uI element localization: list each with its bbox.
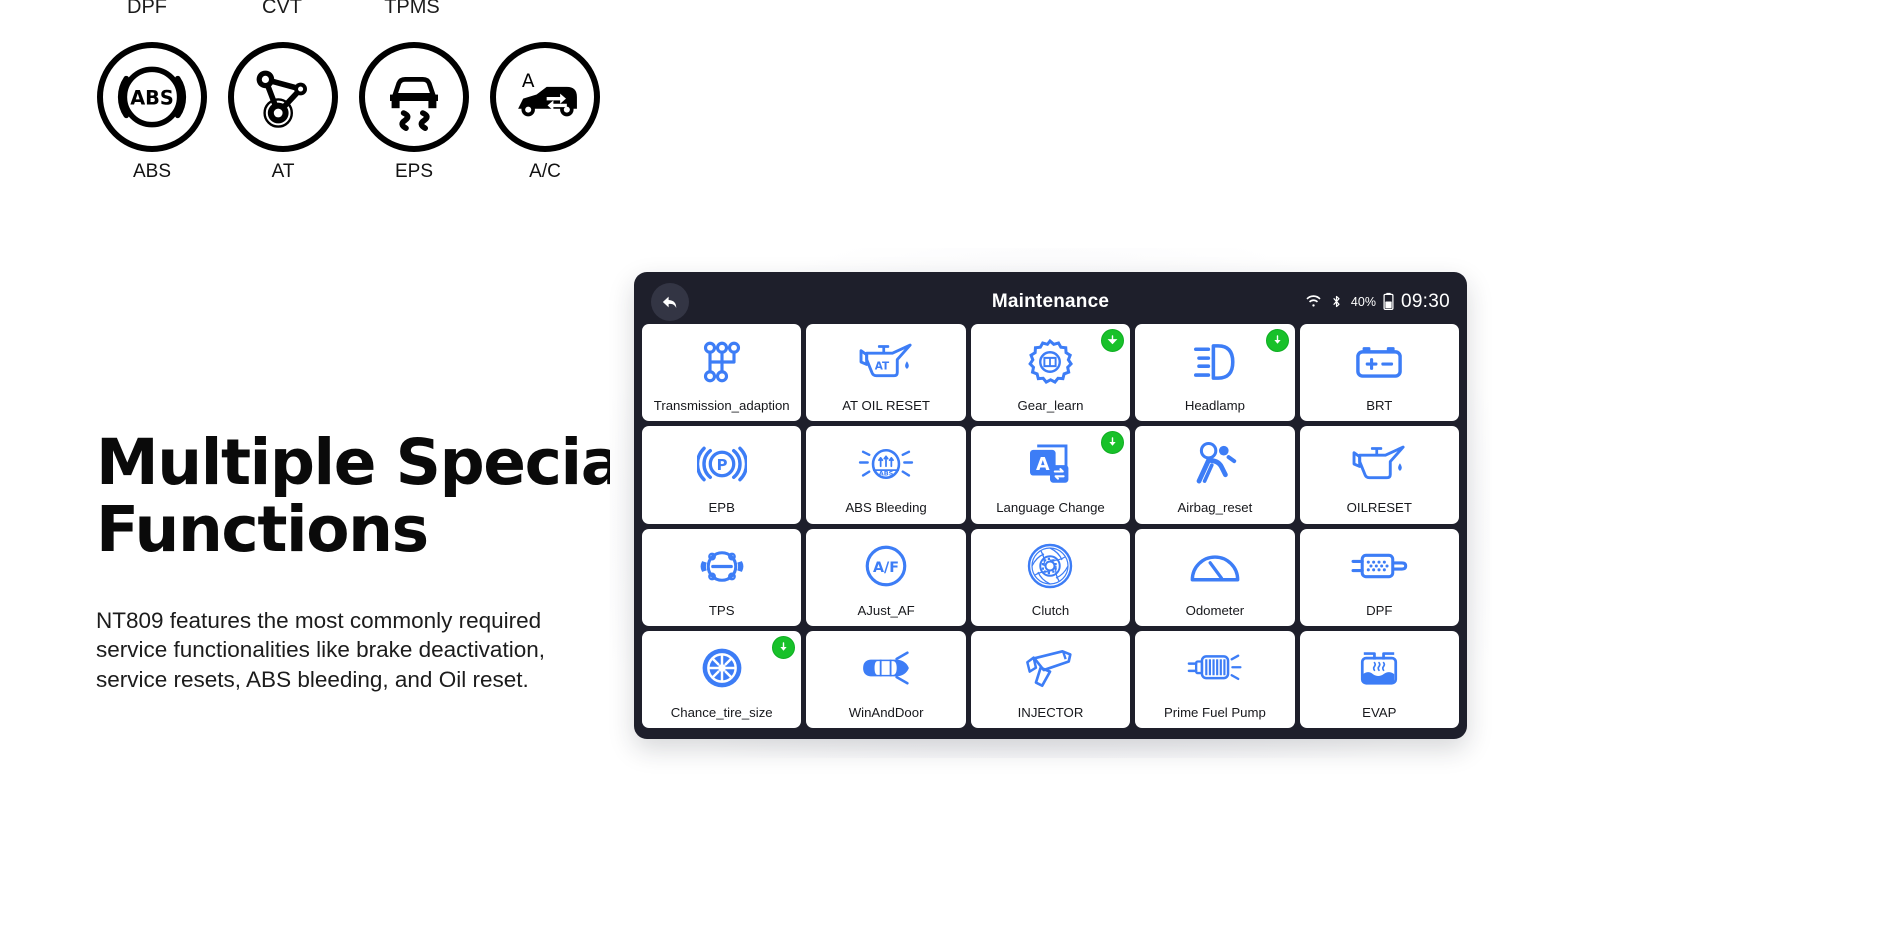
tile-epb[interactable]: P EPB (642, 426, 801, 523)
svg-text:A/F: A/F (873, 560, 899, 576)
svg-text:P: P (716, 457, 727, 474)
cropped-label-row: DPF CVT TPMS (0, 0, 760, 18)
tile-ajust-af[interactable]: A/F AJust_AF (806, 529, 965, 626)
tile-headlamp[interactable]: Headlamp (1135, 324, 1294, 421)
category-at: AT (213, 42, 353, 183)
tablet-device: Maintenance 40% (634, 272, 1467, 739)
tile-label: OILRESET (1347, 501, 1412, 523)
cropped-label-dpf: DPF (87, 0, 207, 19)
automatic-transmission-belt-icon (228, 42, 338, 152)
seatbelt-airbag-icon (1135, 426, 1294, 501)
air-fuel-ratio-icon: A/F (806, 529, 965, 604)
tile-brt[interactable]: BRT (1300, 324, 1459, 421)
throttle-body-icon (642, 529, 801, 604)
gear-shifter-icon (642, 324, 801, 399)
battery-percent: 40% (1351, 295, 1376, 309)
tile-label: AT OIL RESET (842, 399, 930, 421)
tile-chance-tire-size[interactable]: Chance_tire_size (642, 631, 801, 728)
tile-label: Odometer (1186, 604, 1245, 626)
tile-gear-learn[interactable]: Gear_learn (971, 324, 1130, 421)
fuel-injector-icon (971, 631, 1130, 706)
category-eps: EPS (344, 42, 484, 183)
cropped-label-cvt: CVT (222, 0, 342, 19)
tile-label: Airbag_reset (1178, 501, 1253, 523)
category-abs: ABS ABS (82, 42, 222, 183)
svg-text:A: A (1036, 455, 1050, 475)
tile-evap[interactable]: EVAP (1300, 631, 1459, 728)
tile-label: INJECTOR (1018, 706, 1084, 728)
bluetooth-icon (1329, 294, 1344, 309)
svg-text:ABS: ABS (879, 469, 894, 477)
car-top-view-icon (806, 631, 965, 706)
marketing-page: DPF CVT TPMS ABS ABS (0, 0, 1900, 946)
at-oil-can-icon: AT (806, 324, 965, 399)
status-indicators: 40% 09:30 (1305, 291, 1450, 313)
tile-label: Language Change (996, 501, 1105, 523)
tile-injector[interactable]: INJECTOR (971, 631, 1130, 728)
tile-dpf[interactable]: DPF (1300, 529, 1459, 626)
svg-text:AT: AT (875, 360, 890, 372)
category-icon-strip: DPF CVT TPMS ABS ABS (0, 0, 760, 230)
tile-label: Transmission_adaption (654, 399, 790, 421)
tile-oilreset[interactable]: OILRESET (1300, 426, 1459, 523)
category-label: EPS (344, 161, 484, 183)
dpf-filter-icon (1300, 529, 1459, 604)
oil-can-icon (1300, 426, 1459, 501)
tile-tps[interactable]: TPS (642, 529, 801, 626)
category-label: A/C (475, 161, 615, 183)
clock: 09:30 (1401, 291, 1450, 313)
electronic-stability-car-icon (359, 42, 469, 152)
tile-label: EPB (709, 501, 735, 523)
tile-label: EVAP (1362, 706, 1396, 728)
back-arrow-icon[interactable] (651, 283, 689, 321)
status-bar: Maintenance 40% (641, 279, 1460, 324)
download-badge-icon (1266, 329, 1289, 352)
tile-label: TPS (709, 604, 735, 626)
page-description: NT809 features the most commonly require… (96, 606, 566, 696)
tile-label: DPF (1366, 604, 1392, 626)
battery-plus-minus-icon (1300, 324, 1459, 399)
air-conditioning-car-icon: A (490, 42, 600, 152)
tile-label: ABS Bleeding (845, 501, 926, 523)
evap-tank-icon (1300, 631, 1459, 706)
tile-transmission-adaption[interactable]: Transmission_adaption (642, 324, 801, 421)
tile-language-change[interactable]: A Language Change (971, 426, 1130, 523)
odometer-gauge-icon (1135, 529, 1294, 604)
parking-brake-icon: P (642, 426, 801, 501)
tile-label: Chance_tire_size (671, 706, 773, 728)
category-label: ABS (82, 161, 222, 183)
svg-text:A: A (522, 71, 535, 92)
tile-at-oil-reset[interactable]: AT AT OIL RESET (806, 324, 965, 421)
abs-brake-icon: ABS (97, 42, 207, 152)
tile-label: Prime Fuel Pump (1164, 706, 1266, 728)
download-badge-icon (772, 636, 795, 659)
category-ac: A A/C (475, 42, 615, 183)
tile-label: WinAndDoor (849, 706, 924, 728)
tile-label: Clutch (1032, 604, 1069, 626)
fuel-pump-icon (1135, 631, 1294, 706)
tile-label: AJust_AF (858, 604, 915, 626)
copy-block: Multiple Special Functions NT809 feature… (96, 430, 696, 695)
category-label: AT (213, 161, 353, 183)
tile-label: Headlamp (1185, 399, 1245, 421)
tile-airbag-reset[interactable]: Airbag_reset (1135, 426, 1294, 523)
svg-text:ABS: ABS (130, 86, 174, 109)
tile-clutch[interactable]: Clutch (971, 529, 1130, 626)
tile-abs-bleeding[interactable]: ABS ABS Bleeding (806, 426, 965, 523)
tile-prime-fuel-pump[interactable]: Prime Fuel Pump (1135, 631, 1294, 728)
maintenance-function-grid: Transmission_adaption AT AT OIL RESET (641, 324, 1460, 728)
wifi-icon (1305, 293, 1322, 310)
clutch-disc-icon (971, 529, 1130, 604)
cropped-label-tpms: TPMS (352, 0, 472, 19)
tile-odometer[interactable]: Odometer (1135, 529, 1294, 626)
tile-label: Gear_learn (1018, 399, 1084, 421)
battery-icon (1383, 292, 1394, 311)
abs-bleeding-icon: ABS (806, 426, 965, 501)
tile-label: BRT (1366, 399, 1392, 421)
tile-win-and-door[interactable]: WinAndDoor (806, 631, 965, 728)
page-title: Multiple Special Functions (96, 430, 696, 564)
